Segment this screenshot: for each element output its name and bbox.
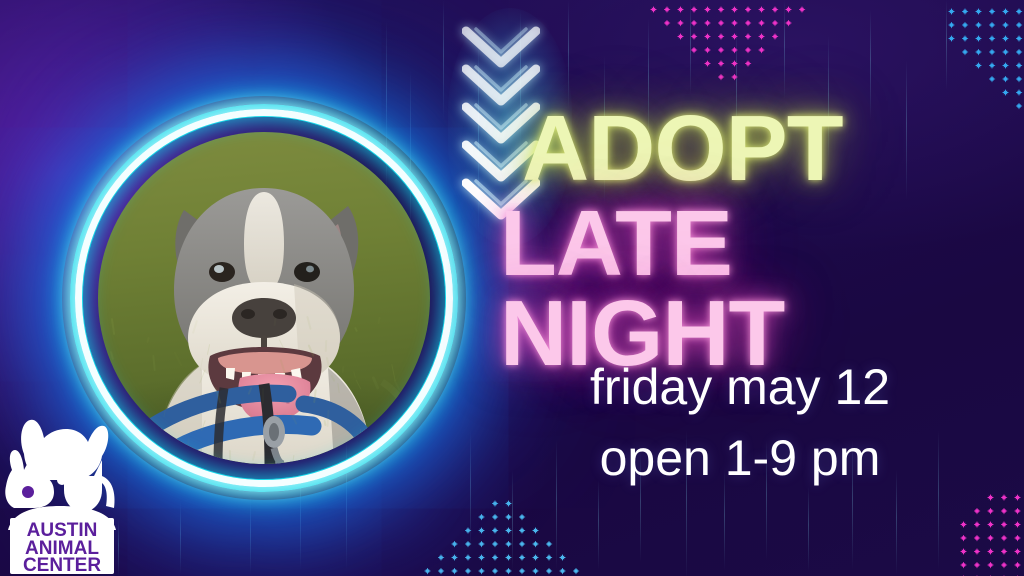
decor-dot bbox=[718, 20, 725, 27]
decor-dot bbox=[691, 47, 698, 54]
decor-dot bbox=[948, 22, 955, 29]
light-streak bbox=[946, 0, 947, 90]
decor-dot bbox=[785, 20, 792, 27]
decor-dot bbox=[974, 562, 981, 569]
decor-dot bbox=[478, 527, 485, 534]
decor-dot bbox=[691, 20, 698, 27]
decor-dot bbox=[772, 60, 779, 67]
decor-dot bbox=[974, 535, 981, 542]
decor-dot bbox=[799, 20, 806, 27]
decor-dot bbox=[704, 33, 711, 40]
adoption-event-poster: ADOPT LATE NIGHT friday may 12 open 1-9 … bbox=[0, 0, 1024, 576]
decor-dot bbox=[731, 20, 738, 27]
decor-dot bbox=[962, 22, 969, 29]
decor-dot bbox=[465, 514, 472, 521]
decor-dot bbox=[691, 60, 698, 67]
decor-dot bbox=[505, 500, 512, 507]
decor-dot bbox=[704, 60, 711, 67]
decor-dot bbox=[559, 500, 566, 507]
decor-dot bbox=[948, 35, 955, 42]
decor-dot bbox=[559, 527, 566, 534]
decor-dot bbox=[519, 568, 526, 575]
decor-dot bbox=[974, 508, 981, 515]
decor-dot bbox=[465, 541, 472, 548]
decor-dot bbox=[677, 6, 684, 13]
decor-dot bbox=[962, 35, 969, 42]
decor-dot bbox=[492, 500, 499, 507]
decor-dot bbox=[451, 541, 458, 548]
decor-dot bbox=[532, 541, 539, 548]
decor-dot bbox=[758, 33, 765, 40]
decor-dot bbox=[1002, 35, 1009, 42]
decor-dot bbox=[799, 33, 806, 40]
decor-dot bbox=[573, 527, 580, 534]
magenta-triangle-dots-decoration bbox=[650, 6, 812, 87]
decor-dot bbox=[987, 494, 994, 501]
decor-dot bbox=[948, 62, 955, 69]
decor-dot bbox=[532, 568, 539, 575]
decor-dot bbox=[438, 514, 445, 521]
decor-dot bbox=[1016, 62, 1023, 69]
decor-dot bbox=[718, 47, 725, 54]
decor-dot bbox=[1016, 35, 1023, 42]
decor-dot bbox=[573, 541, 580, 548]
decor-dot bbox=[677, 33, 684, 40]
decor-dot bbox=[691, 6, 698, 13]
decor-dot bbox=[465, 500, 472, 507]
decor-dot bbox=[1001, 521, 1008, 528]
decor-dot bbox=[478, 568, 485, 575]
decor-dot bbox=[664, 33, 671, 40]
decor-dot bbox=[718, 60, 725, 67]
decor-dot bbox=[478, 500, 485, 507]
decor-dot bbox=[1016, 89, 1023, 96]
decor-dot bbox=[424, 554, 431, 561]
decor-dot bbox=[772, 47, 779, 54]
neon-ring-white bbox=[75, 109, 453, 487]
decor-dot bbox=[785, 74, 792, 81]
decor-dot bbox=[799, 47, 806, 54]
decor-dot bbox=[424, 541, 431, 548]
decor-dot bbox=[962, 89, 969, 96]
decor-dot bbox=[519, 500, 526, 507]
event-date: friday may 12 bbox=[520, 352, 960, 423]
decor-dot bbox=[989, 8, 996, 15]
cyan-triangle-dots-decoration bbox=[424, 500, 586, 576]
decor-dot bbox=[677, 20, 684, 27]
decor-dot bbox=[438, 554, 445, 561]
decor-dot bbox=[989, 35, 996, 42]
decor-dot bbox=[960, 535, 967, 542]
decor-dot bbox=[559, 568, 566, 575]
decor-dot bbox=[559, 514, 566, 521]
decor-dot bbox=[1001, 535, 1008, 542]
decor-dot bbox=[975, 76, 982, 83]
decor-dot bbox=[1016, 22, 1023, 29]
decor-dot bbox=[532, 527, 539, 534]
decor-dot bbox=[492, 554, 499, 561]
decor-dot bbox=[1014, 494, 1021, 501]
decor-dot bbox=[505, 541, 512, 548]
decor-dot bbox=[1001, 494, 1008, 501]
decor-dot bbox=[960, 521, 967, 528]
decor-dot bbox=[1014, 521, 1021, 528]
decor-dot bbox=[799, 60, 806, 67]
decor-dot bbox=[718, 74, 725, 81]
decor-dot bbox=[424, 500, 431, 507]
decor-dot bbox=[1001, 562, 1008, 569]
decor-dot bbox=[731, 33, 738, 40]
decor-dot bbox=[451, 514, 458, 521]
decor-dot bbox=[546, 541, 553, 548]
decor-dot bbox=[785, 60, 792, 67]
decor-dot bbox=[989, 22, 996, 29]
decor-dot bbox=[650, 47, 657, 54]
decor-dot bbox=[650, 74, 657, 81]
decor-dot bbox=[1016, 76, 1023, 83]
decor-dot bbox=[664, 74, 671, 81]
decor-dot bbox=[559, 554, 566, 561]
decor-dot bbox=[1002, 22, 1009, 29]
decor-dot bbox=[785, 6, 792, 13]
decor-dot bbox=[948, 76, 955, 83]
decor-dot bbox=[989, 76, 996, 83]
decor-dot bbox=[758, 74, 765, 81]
decor-dot bbox=[745, 20, 752, 27]
decor-dot bbox=[1016, 8, 1023, 15]
decor-dot bbox=[1014, 535, 1021, 542]
decor-dot bbox=[546, 568, 553, 575]
decor-dot bbox=[758, 47, 765, 54]
decor-dot bbox=[1002, 49, 1009, 56]
decor-dot bbox=[505, 554, 512, 561]
decor-dot bbox=[962, 62, 969, 69]
decor-dot bbox=[573, 554, 580, 561]
decor-dot bbox=[492, 541, 499, 548]
decor-dot bbox=[424, 514, 431, 521]
decor-dot bbox=[731, 47, 738, 54]
decor-dot bbox=[960, 562, 967, 569]
decor-dot bbox=[573, 568, 580, 575]
decor-dot bbox=[546, 554, 553, 561]
decor-dot bbox=[465, 568, 472, 575]
decor-dot bbox=[438, 500, 445, 507]
decor-dot bbox=[718, 33, 725, 40]
decor-dot bbox=[505, 514, 512, 521]
decor-dot bbox=[974, 494, 981, 501]
decor-dot bbox=[1002, 8, 1009, 15]
decor-dot bbox=[704, 47, 711, 54]
decor-dot bbox=[650, 60, 657, 67]
decor-dot bbox=[960, 508, 967, 515]
decor-dot bbox=[650, 20, 657, 27]
decor-dot bbox=[785, 47, 792, 54]
decor-dot bbox=[546, 514, 553, 521]
decor-dot bbox=[745, 74, 752, 81]
decor-dot bbox=[438, 568, 445, 575]
decor-dot bbox=[1016, 49, 1023, 56]
decor-dot bbox=[451, 500, 458, 507]
decor-dot bbox=[519, 541, 526, 548]
decor-dot bbox=[677, 74, 684, 81]
decor-dot bbox=[677, 47, 684, 54]
logo-line-center: CENTER bbox=[23, 555, 101, 576]
decor-dot bbox=[745, 47, 752, 54]
decor-dot bbox=[532, 500, 539, 507]
decor-dot bbox=[465, 554, 472, 561]
decor-dot bbox=[975, 8, 982, 15]
decor-dot bbox=[745, 6, 752, 13]
light-streak bbox=[808, 486, 809, 572]
decor-dot bbox=[505, 568, 512, 575]
decor-dot bbox=[519, 514, 526, 521]
decor-dot bbox=[505, 527, 512, 534]
decor-dot bbox=[532, 514, 539, 521]
decor-dot bbox=[492, 568, 499, 575]
light-streak bbox=[250, 496, 251, 574]
decor-dot bbox=[546, 527, 553, 534]
decor-dot bbox=[519, 527, 526, 534]
decor-dot bbox=[962, 8, 969, 15]
decor-dot bbox=[532, 554, 539, 561]
decor-dot bbox=[1014, 548, 1021, 555]
decor-dot bbox=[664, 6, 671, 13]
decor-dot bbox=[960, 494, 967, 501]
decor-dot bbox=[731, 74, 738, 81]
decor-dot bbox=[438, 527, 445, 534]
decor-dot bbox=[573, 514, 580, 521]
decor-dot bbox=[974, 548, 981, 555]
decor-dot bbox=[519, 554, 526, 561]
decor-dot bbox=[559, 541, 566, 548]
decor-dot bbox=[677, 60, 684, 67]
decor-dot bbox=[573, 500, 580, 507]
decor-dot bbox=[451, 527, 458, 534]
decor-dot bbox=[704, 74, 711, 81]
decor-dot bbox=[664, 20, 671, 27]
decor-dot bbox=[948, 8, 955, 15]
decor-dot bbox=[1002, 89, 1009, 96]
decor-dot bbox=[772, 74, 779, 81]
decor-dot bbox=[424, 568, 431, 575]
decor-dot bbox=[989, 89, 996, 96]
decor-dot bbox=[987, 521, 994, 528]
decor-dot bbox=[989, 49, 996, 56]
decor-dot bbox=[704, 20, 711, 27]
decor-dot bbox=[731, 60, 738, 67]
decor-dot bbox=[664, 47, 671, 54]
decor-dot bbox=[546, 500, 553, 507]
decor-dot bbox=[962, 49, 969, 56]
decor-dot bbox=[438, 541, 445, 548]
decor-dot bbox=[975, 49, 982, 56]
decor-dot bbox=[731, 6, 738, 13]
decor-dot bbox=[478, 541, 485, 548]
decor-dot bbox=[772, 20, 779, 27]
decor-dot bbox=[975, 89, 982, 96]
decor-dot bbox=[704, 6, 711, 13]
headline-block: ADOPT LATE NIGHT bbox=[522, 104, 1022, 378]
decor-dot bbox=[799, 6, 806, 13]
decor-dot bbox=[975, 62, 982, 69]
decor-dot bbox=[758, 60, 765, 67]
decor-dot bbox=[492, 527, 499, 534]
decor-dot bbox=[975, 22, 982, 29]
decor-dot bbox=[772, 33, 779, 40]
decor-dot bbox=[758, 20, 765, 27]
decor-dot bbox=[975, 35, 982, 42]
decor-dot bbox=[758, 6, 765, 13]
event-details-block: friday may 12 open 1-9 pm bbox=[520, 352, 960, 494]
decor-dot bbox=[960, 548, 967, 555]
decor-dot bbox=[989, 62, 996, 69]
decor-dot bbox=[1001, 508, 1008, 515]
decor-dot bbox=[492, 514, 499, 521]
decor-dot bbox=[478, 554, 485, 561]
headline-adopt: ADOPT bbox=[522, 104, 1022, 193]
decor-dot bbox=[465, 527, 472, 534]
decor-dot bbox=[691, 74, 698, 81]
light-streak bbox=[180, 500, 181, 574]
event-hours: open 1-9 pm bbox=[520, 423, 960, 494]
decor-dot bbox=[424, 527, 431, 534]
decor-dot bbox=[948, 49, 955, 56]
decor-dot bbox=[691, 33, 698, 40]
decor-dot bbox=[1002, 76, 1009, 83]
decor-dot bbox=[799, 74, 806, 81]
decor-dot bbox=[718, 6, 725, 13]
decor-dot bbox=[987, 508, 994, 515]
decor-dot bbox=[987, 548, 994, 555]
decor-dot bbox=[987, 562, 994, 569]
decor-dot bbox=[1002, 62, 1009, 69]
decor-dot bbox=[478, 514, 485, 521]
decor-dot bbox=[962, 76, 969, 83]
austin-animal-center-logo: AUSTIN ANIMAL CENTER bbox=[2, 410, 124, 576]
decor-dot bbox=[451, 554, 458, 561]
magenta-cluster-dots-decoration bbox=[960, 494, 1024, 576]
decor-dot bbox=[451, 568, 458, 575]
logo-artwork: AUSTIN ANIMAL CENTER bbox=[2, 410, 124, 576]
decor-dot bbox=[745, 60, 752, 67]
decor-dot bbox=[987, 535, 994, 542]
decor-dot bbox=[650, 33, 657, 40]
decor-dot bbox=[1014, 508, 1021, 515]
decor-dot bbox=[650, 6, 657, 13]
decor-dot bbox=[745, 33, 752, 40]
decor-dot bbox=[1014, 562, 1021, 569]
decor-dot bbox=[664, 60, 671, 67]
decor-dot bbox=[948, 89, 955, 96]
decor-dot bbox=[785, 33, 792, 40]
decor-dot bbox=[772, 6, 779, 13]
decor-dot bbox=[974, 521, 981, 528]
decor-dot bbox=[1001, 548, 1008, 555]
